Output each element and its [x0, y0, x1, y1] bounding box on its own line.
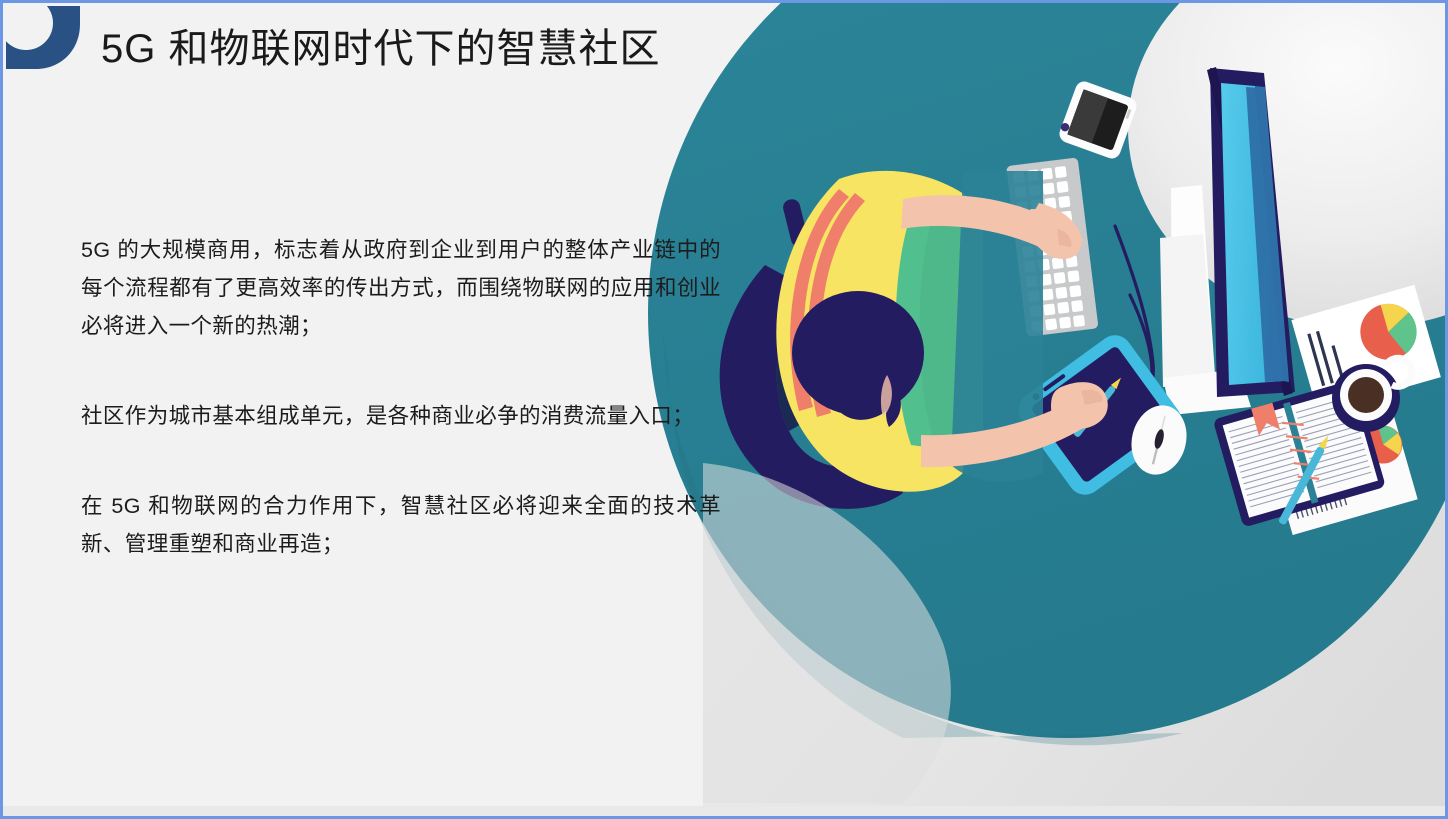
crescent-logo-mark — [6, 6, 80, 69]
coffee-cup — [1332, 358, 1412, 432]
desk-surface — [648, 3, 1445, 745]
mouse — [1124, 400, 1193, 481]
backdrop-blob — [1128, 3, 1445, 328]
paragraph-1: 5G 的大规模商用，标志着从政府到企业到用户的整体产业链中的每个流程都有了更高效… — [81, 231, 721, 345]
person — [776, 171, 1107, 492]
notebook — [1213, 379, 1386, 527]
body-copy: 5G 的大规模商用，标志着从政府到企业到用户的整体产业链中的每个流程都有了更高效… — [81, 231, 721, 563]
paragraph-2: 社区作为城市基本组成单元，是各种商业必争的消费流量入口； — [81, 397, 721, 435]
smartphone — [1056, 79, 1139, 161]
keyboard — [1006, 157, 1098, 336]
tablet — [1012, 328, 1188, 501]
paper-bottom-edge — [3, 806, 1445, 816]
office-chair — [720, 198, 903, 509]
stylus — [1073, 375, 1124, 438]
page-title: 5G 和物联网时代下的智慧社区 — [101, 23, 660, 75]
chart-papers — [1259, 285, 1441, 535]
monitor — [1160, 67, 1295, 415]
paragraph-3: 在 5G 和物联网的合力作用下，智慧社区必将迎来全面的技术革新、管理重塑和商业再… — [81, 487, 721, 563]
cables — [1103, 226, 1153, 427]
slide-canvas: 5G 和物联网时代下的智慧社区 5G 的大规模商用，标志着从政府到企业到用户的整… — [0, 0, 1448, 819]
pencil — [1278, 433, 1332, 525]
